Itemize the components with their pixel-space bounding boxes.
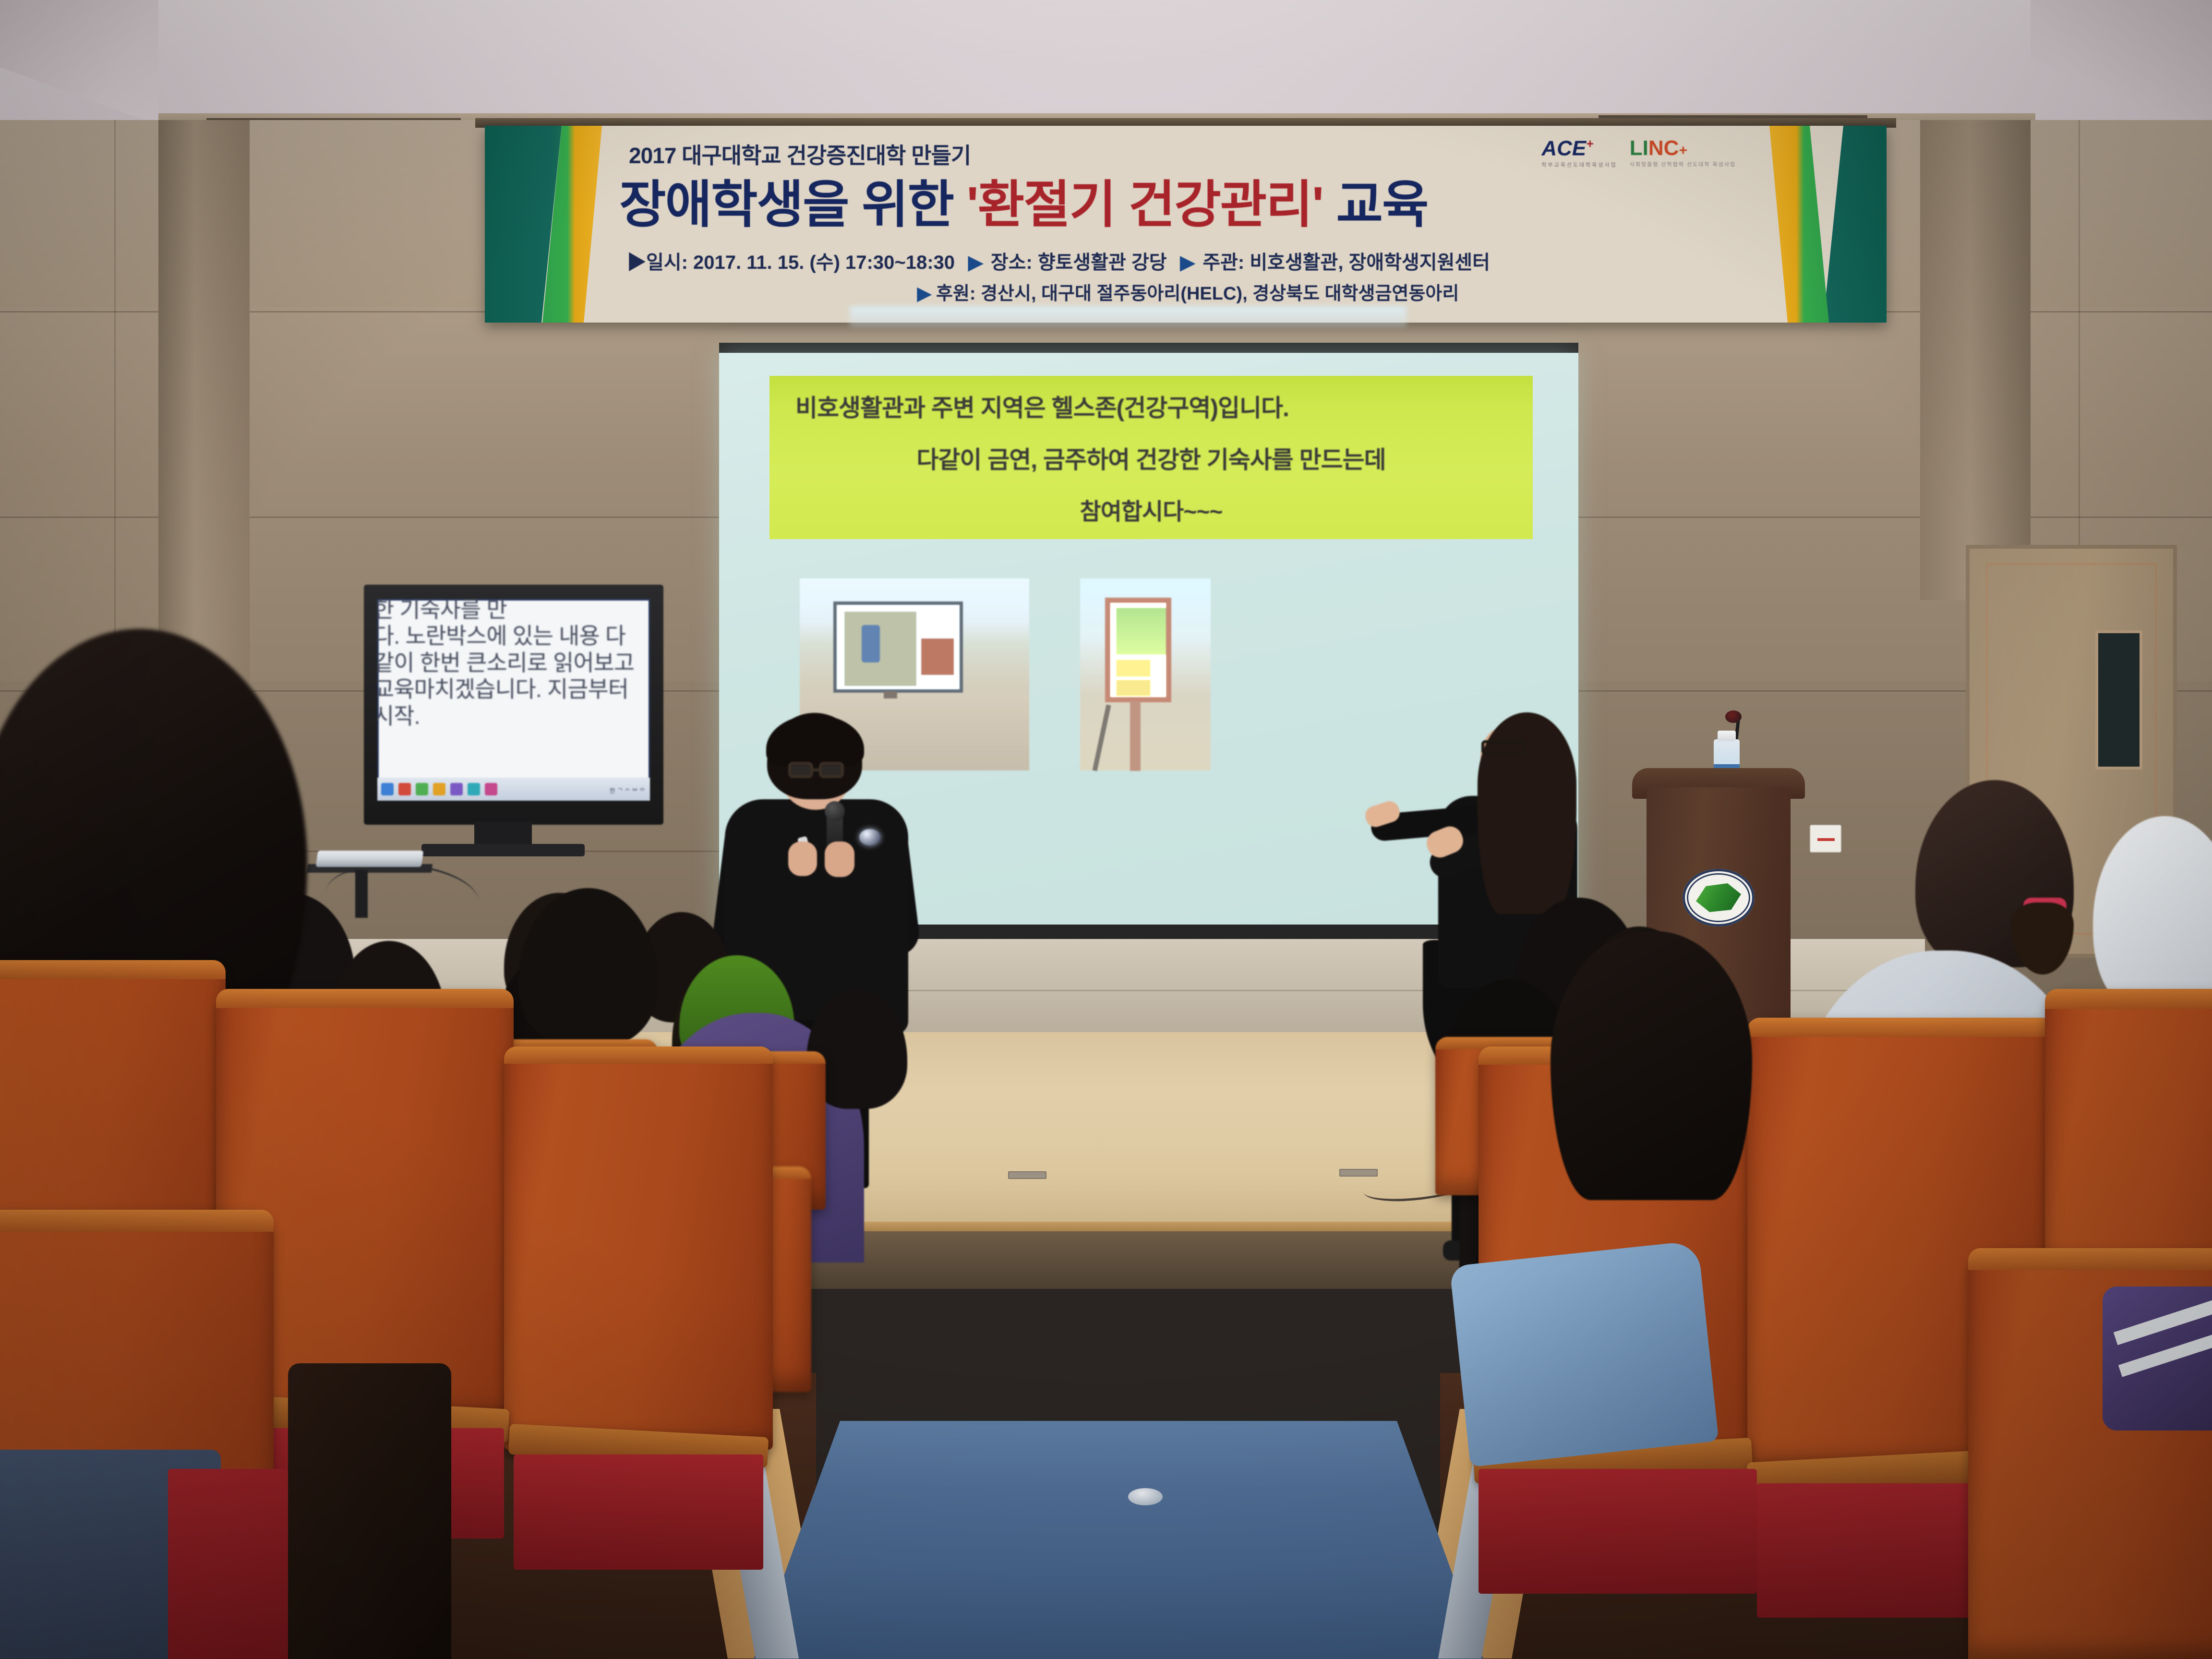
banner-place-label: 장소: [991, 252, 1033, 273]
slide-yellow-box: 비호생활관과 주변 지역은 헬스존(건강구역)입니다. 다같이 금연, 금주하여… [769, 376, 1533, 539]
slide-line-1: 비호생활관과 주변 지역은 헬스존(건강구역)입니다. [789, 389, 1514, 423]
taskbar-icon-3[interactable] [416, 783, 428, 795]
microphone-head-icon [825, 801, 845, 821]
monitor-line-5: 시작. [377, 703, 650, 729]
linc-logo-n: N [1648, 136, 1664, 160]
linc-logo-subtitle: 사회맞춤형 산학협력 선도대학 육성사업 [1630, 160, 1736, 168]
monitor-base [421, 844, 585, 856]
slide-line-3: 참여합시다~~~ [789, 493, 1514, 526]
eyeglasses-bridge [813, 769, 820, 771]
monitor-taskbar[interactable]: 한 ᄀ ᄉ ᄇ ᄋ [377, 778, 650, 801]
monitor-line-4: 교육마치겠습니다. 지금부터 [377, 676, 650, 702]
laptop-stand-leg [355, 870, 368, 918]
taskbar-icon-4[interactable] [433, 783, 445, 795]
foreground-seat-cushion-l3[interactable] [514, 1455, 763, 1570]
banner-sponsor-value: 경산시, 대구대 절주동아리(HELC), 경상북도 대학생금연동아리 [981, 284, 1459, 304]
event-banner: 2017 대구대학교 건강증진대학 만들기 장애학생을 위한 '환절기 건강관리… [485, 126, 1887, 323]
signboard-right-brace [1093, 704, 1111, 771]
monitor-text-block: 한 기숙사를 만 다. 노란박스에 있는 내용 다 같이 한번 큰소리로 읽어보… [377, 599, 650, 729]
banner-info-row: ▶일시: 2017. 11. 15. (수) 17:30~18:30▶장소: 향… [627, 247, 1750, 275]
banner-glare [850, 306, 1407, 327]
monitor-line-1: 한 기숙사를 만 [377, 599, 650, 623]
slide-line-2: 다같이 금연, 금주하여 건강한 기숙사를 만드는데 [789, 441, 1514, 475]
foreground-seat-l3[interactable] [504, 1046, 773, 1450]
taskbar-icon-1[interactable] [381, 783, 394, 795]
banner-logo-group: ACE+ 학부교육선도대학육성사업 LINC+ 사회맞춤형 산학협력 선도대학 … [1541, 136, 1736, 168]
bullet-icon-date: ▶ [627, 252, 646, 273]
pilaster-right [1920, 120, 2031, 600]
monitor-line-2: 다. 노란박스에 있는 내용 다 [377, 623, 650, 649]
speaker-left-hand [788, 842, 817, 876]
foreground-seat-side-panel [288, 1363, 451, 1659]
light-switch[interactable] [1810, 825, 1841, 853]
monitor-system-tray: 한 ᄀ ᄉ ᄇ ᄋ [610, 786, 645, 795]
taskbar-icon-7[interactable] [485, 783, 497, 795]
speaker-fringe [766, 715, 864, 767]
speaker-right-hand [825, 842, 854, 877]
auditorium-photo-scene: 2017 대구대학교 건강증진대학 만들기 장애학생을 위한 '환절기 건강관리… [0, 0, 2212, 1659]
banner-date-label: 일시: [646, 252, 688, 273]
laptop[interactable] [316, 851, 424, 867]
university-emblem-icon [1683, 869, 1755, 926]
banner-host-value: 비호생활관, 장애학생지원센터 [1250, 252, 1490, 273]
ace-logo-subtitle: 학부교육선도대학육성사업 [1541, 161, 1617, 168]
bullet-icon-host: ▶ [1180, 252, 1195, 273]
banner-title: 장애학생을 위한 '환절기 건강관리' 교육 [619, 163, 1738, 237]
linc-logo-li: LI [1630, 136, 1648, 160]
banner-title-part1: 장애학생을 위한 [619, 177, 967, 233]
door-window [2095, 630, 2142, 769]
eyeglasses-icon-left [788, 762, 813, 778]
aisle-floor-stud [1128, 1488, 1163, 1505]
center-aisle-carpet [754, 1421, 1483, 1659]
banner-title-part3: 교육 [1323, 177, 1428, 233]
bullet-icon-place: ▶ [968, 252, 983, 273]
brooch-icon [859, 829, 880, 845]
podium-microphone-icon [1725, 710, 1742, 723]
taskbar-icon-6[interactable] [468, 783, 480, 795]
banner-title-highlight: '환절기 건강관리' [967, 177, 1323, 233]
monitor-screen: 한 기숙사를 만 다. 노란박스에 있는 내용 다 같이 한번 큰소리로 읽어보… [377, 599, 650, 801]
taskbar-icon-5[interactable] [450, 783, 463, 795]
eyeglasses-icon-right [819, 762, 844, 778]
linc-logo-plus: + [1679, 143, 1687, 158]
banner-sponsor-label: 후원: [936, 284, 976, 304]
signboard-left [833, 601, 963, 693]
signboard-right [1105, 598, 1171, 702]
ceiling [0, 0, 2212, 120]
monitor-line-3: 같이 한번 큰소리로 읽어보고 [377, 649, 650, 676]
audience-head-aisle-right [1551, 931, 1752, 1200]
linc-logo-c: C [1664, 136, 1679, 160]
draped-blue-coat [1449, 1240, 1719, 1467]
banner-place-value: 향토생활관 강당 [1038, 252, 1167, 273]
banner-content: 2017 대구대학교 건강증진대학 만들기 장애학생을 위한 '환절기 건강관리… [610, 126, 1767, 323]
banner-sponsor-row: ▶후원: 경산시, 대구대 절주동아리(HELC), 경상북도 대학생금연동아리 [610, 278, 1767, 305]
stage-monitor: 한 기숙사를 만 다. 노란박스에 있는 내용 다 같이 한번 큰소리로 읽어보… [364, 585, 663, 825]
interpreter-eyeglasses-icon [1481, 740, 1526, 755]
ace-logo: ACE+ 학부교육선도대학육성사업 [1541, 136, 1617, 168]
slide-photo-right [1080, 578, 1211, 770]
ace-logo-plus: + [1586, 136, 1593, 151]
banner-host-label: 주관: [1202, 252, 1244, 273]
ace-logo-text: ACE [1541, 137, 1586, 160]
linc-logo: LINC+ 사회맞춤형 산학협력 선도대학 육성사업 [1630, 136, 1736, 168]
foreground-seat-cushion-r1[interactable] [1479, 1469, 1757, 1594]
signboard-right-post [1130, 701, 1141, 771]
taskbar-icon-2[interactable] [398, 783, 411, 795]
stage-floor-outlet-1 [1008, 1171, 1046, 1179]
monitor-stand [474, 822, 532, 847]
banner-date-value: 2017. 11. 15. (수) 17:30~18:30 [693, 252, 955, 273]
bullet-icon-sponsor: ▶ [917, 284, 931, 304]
